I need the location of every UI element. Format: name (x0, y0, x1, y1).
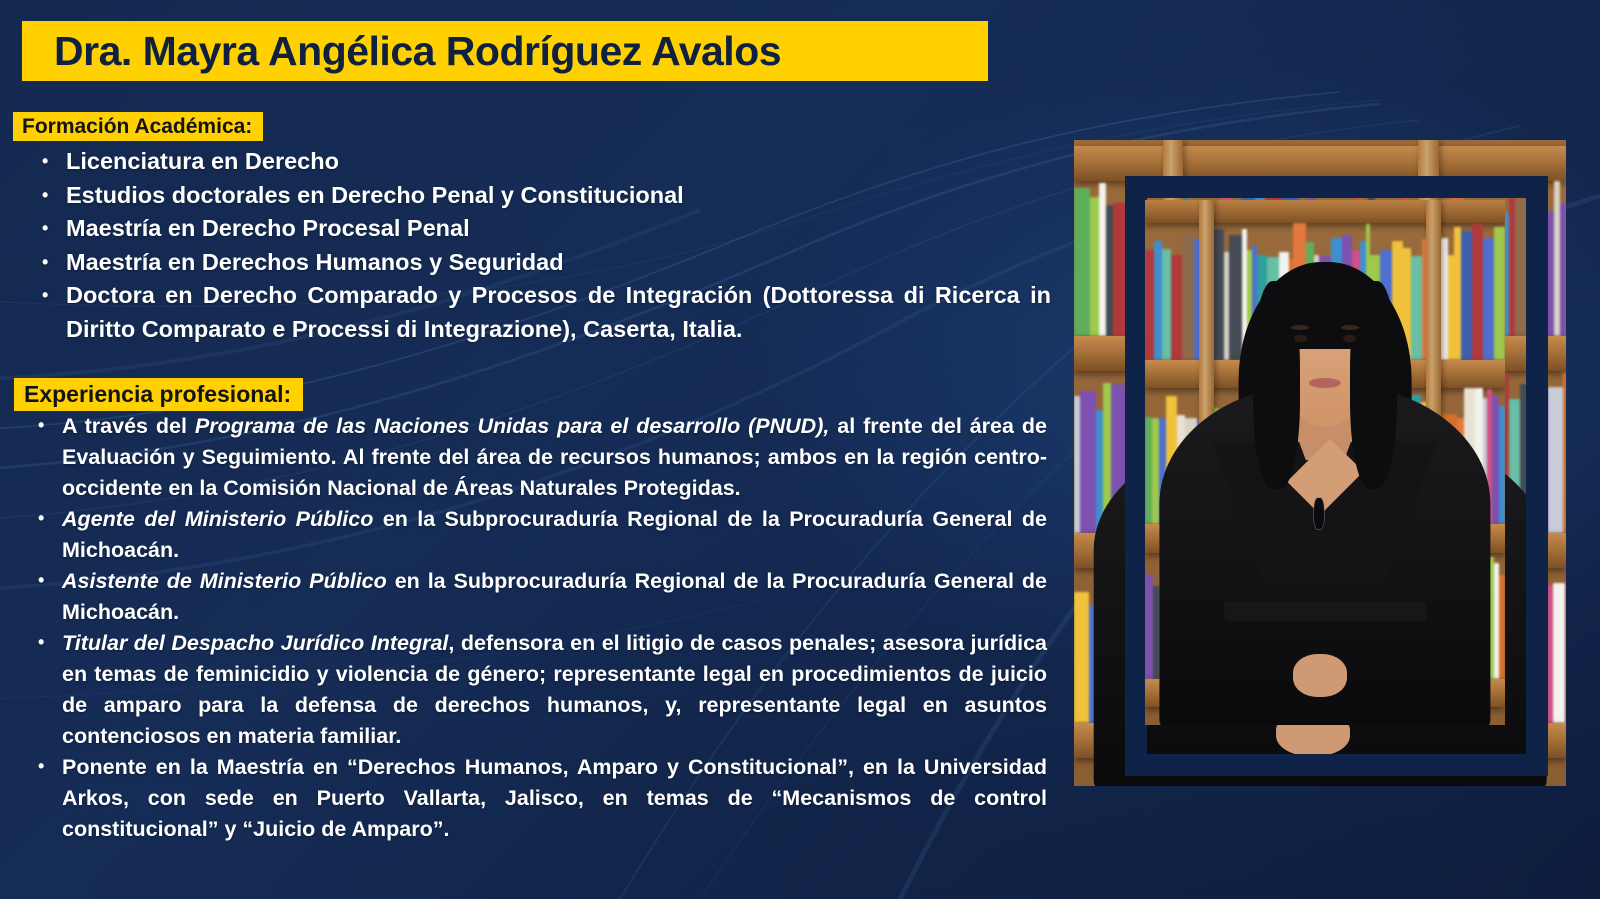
item-emphasis: Asistente de Ministerio Público (62, 569, 387, 593)
portrait-composition (1074, 140, 1566, 786)
page-title: Dra. Mayra Angélica Rodríguez Avalos (54, 28, 781, 75)
item-emphasis: Programa de las Naciones Unidas para el … (195, 414, 829, 438)
eyebrow-right (1341, 325, 1359, 330)
slide-canvas: Dra. Mayra Angélica Rodríguez Avalos For… (0, 0, 1600, 899)
list-item: Maestría en Derecho Procesal Penal (66, 212, 1051, 246)
formacion-list: Licenciatura en Derecho Estudios doctora… (66, 145, 1051, 346)
person-figure (1145, 253, 1505, 726)
page-title-banner: Dra. Mayra Angélica Rodríguez Avalos (22, 21, 988, 81)
experiencia-list: A través del Programa de las Naciones Un… (62, 411, 1047, 845)
list-item: Licenciatura en Derecho (66, 145, 1051, 179)
list-item: Estudios doctorales en Derecho Penal y C… (66, 179, 1051, 213)
list-item: Asistente de Ministerio Público en la Su… (62, 566, 1047, 628)
item-emphasis: Agente del Ministerio Público (62, 507, 373, 531)
list-item: Maestría en Derechos Humanos y Seguridad (66, 246, 1051, 280)
item-rest: Ponente en la Maestría en “Derechos Huma… (62, 755, 1047, 841)
eyebrow-left (1291, 325, 1309, 330)
section-heading-formacion: Formación Académica: (13, 112, 263, 141)
list-item: Doctora en Derecho Comparado y Procesos … (66, 279, 1051, 346)
list-item: A través del Programa de las Naciones Un… (62, 411, 1047, 504)
portrait-photo-inner (1145, 200, 1505, 725)
waist-tie (1224, 602, 1426, 621)
hair-left (1253, 281, 1300, 489)
library-scene-inner (1145, 200, 1505, 725)
item-emphasis: Titular del Despacho Jurídico Integral (62, 631, 448, 655)
list-item: Agente del Ministerio Público en la Subp… (62, 504, 1047, 566)
list-item: Titular del Despacho Jurídico Integral, … (62, 628, 1047, 752)
item-lead: A través del (62, 414, 195, 438)
eye-right (1343, 335, 1355, 342)
eye-left (1294, 335, 1306, 342)
lapel-microphone (1314, 498, 1323, 529)
section-heading-experiencia: Experiencia profesional: (14, 378, 303, 411)
hands (1293, 654, 1347, 697)
list-item: Ponente en la Maestría en “Derechos Huma… (62, 752, 1047, 845)
hair-right (1350, 281, 1397, 489)
